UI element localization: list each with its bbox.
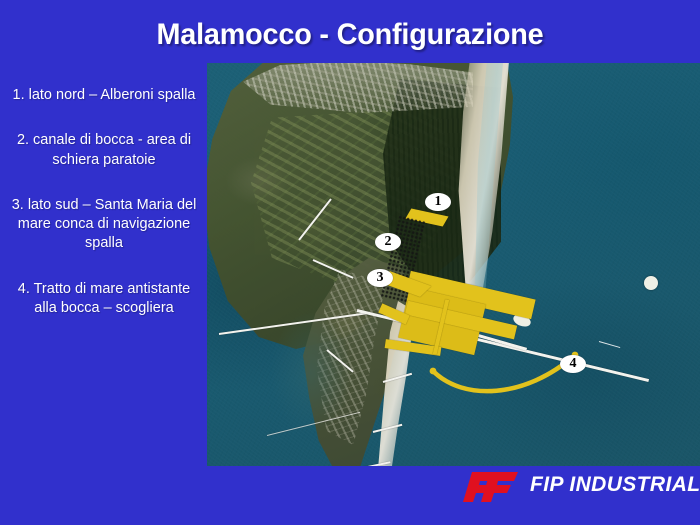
- bullet-item-1: 1. lato nord – Alberoni spalla: [6, 86, 202, 105]
- fip-logo-suffix: INDUSTRIALE: [569, 473, 700, 496]
- map-callout-3[interactable]: 3: [367, 269, 393, 287]
- fip-logo-brand: FIP: [530, 473, 563, 496]
- map-callout-2[interactable]: 2: [375, 233, 401, 251]
- aerial-map: [207, 63, 700, 466]
- shallow-lagoon-patch: [271, 313, 351, 433]
- jetty-north-lighthouse-head: [644, 276, 658, 290]
- bullet-item-4: 4. Tratto di mare antistante alla bocca …: [6, 280, 202, 319]
- bullet-item-2: 2. canale di bocca - area di schiera par…: [6, 131, 202, 170]
- map-callout-1[interactable]: 1: [425, 193, 451, 211]
- bullet-list: 1. lato nord – Alberoni spalla 2. canale…: [6, 86, 202, 318]
- bullet-item-3: 3. lato sud – Santa Maria del mare conca…: [6, 196, 202, 254]
- page-title: Malamocco - Configurazione: [14, 18, 686, 52]
- footer-logo: FIP INDUSTRIALE: [462, 468, 692, 510]
- fip-logo-text: FIP INDUSTRIALE: [530, 473, 700, 497]
- map-callout-4[interactable]: 4: [560, 355, 586, 373]
- slide-root: Malamocco - Configurazione 1. lato nord …: [0, 0, 700, 525]
- fip-logo-icon: [462, 470, 520, 504]
- overlay-scogliera-breakwater: [429, 343, 609, 407]
